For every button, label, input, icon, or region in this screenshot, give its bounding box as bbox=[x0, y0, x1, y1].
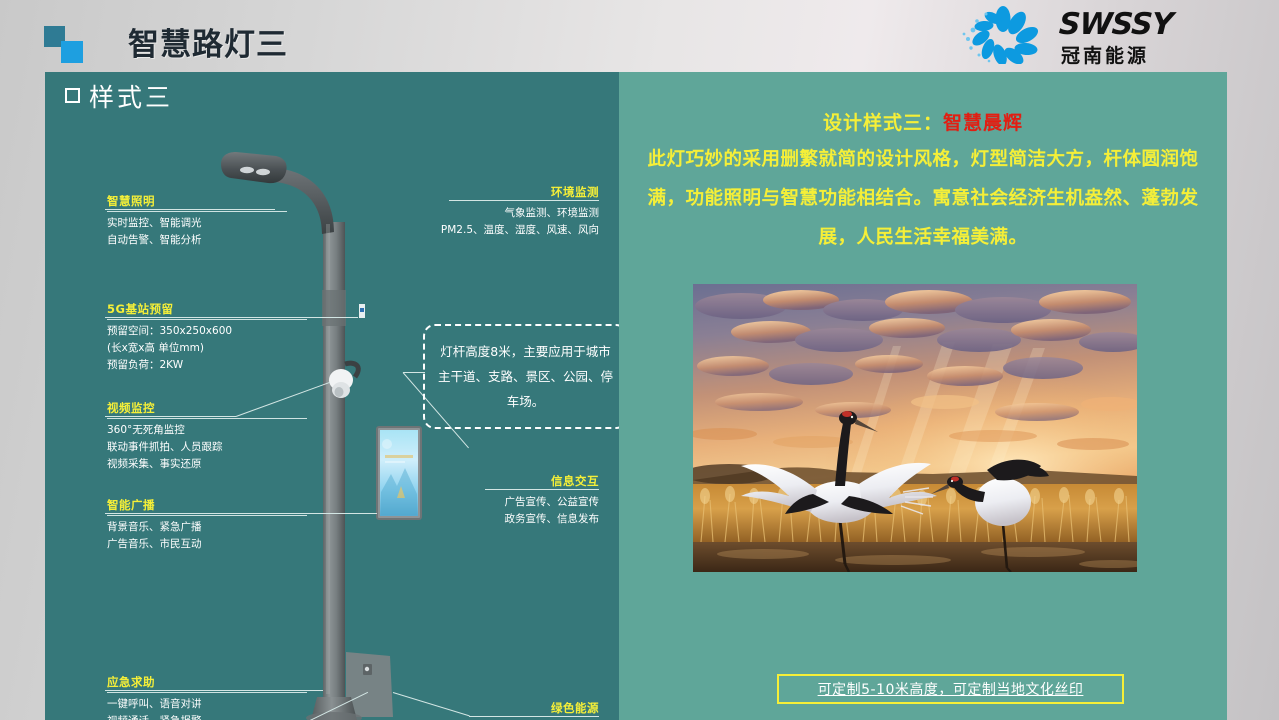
label-environment-line-1: 气象监测、环境监测 bbox=[399, 205, 599, 222]
label-broadcast-line-1: 背景音乐、紧急广播 bbox=[107, 519, 307, 536]
left-panel-title: 样式三 bbox=[89, 78, 173, 114]
label-5g-line-2: (长x宽x高 单位mm) bbox=[107, 340, 307, 357]
label-5g-line-1: 预留空间：350x250x600 bbox=[107, 323, 307, 340]
crane-sunset-photo-image bbox=[693, 284, 1137, 572]
page-title: 智慧路灯三 bbox=[128, 19, 288, 64]
label-emergency-line-1: 一键呼叫、语音对讲 bbox=[107, 696, 307, 713]
leader-line-callout bbox=[403, 372, 425, 373]
brand-logo: SWSSY 冠南能源 bbox=[955, 6, 1225, 66]
label-5g-line-3: 预留负荷：2KW bbox=[107, 357, 307, 374]
right-description-panel: 设计样式三：智慧晨辉 此灯巧妙的采用删繁就简的设计风格，灯型简洁大方，杆体圆润饱… bbox=[619, 72, 1227, 720]
label-emergency-line-2: 视频通话、紧急报警 bbox=[107, 713, 307, 720]
label-smart-lighting-line-2: 自动告警、智能分析 bbox=[107, 232, 287, 249]
label-broadcast-line-2: 广告音乐、市民互动 bbox=[107, 536, 307, 553]
callout-text: 灯杆高度8米，主要应用于城市主干道、支路、景区、公园、停车场。 bbox=[425, 339, 619, 414]
square-bullet-icon bbox=[65, 88, 80, 103]
label-video-line-1: 360°无死角监控 bbox=[107, 422, 307, 439]
label-information-interaction: 信息交互 广告宣传、公益宣传 政务宣传、信息发布 bbox=[439, 473, 599, 528]
label-smart-lighting: 智慧照明 实时监控、智能调光 自动告警、智能分析 bbox=[107, 193, 287, 249]
height-application-callout: 灯杆高度8米，主要应用于城市主干道、支路、景区、公园、停车场。 bbox=[423, 324, 619, 429]
label-info-line-2: 政务宣传、信息发布 bbox=[439, 511, 599, 528]
logo-wordmark: SWSSY bbox=[1058, 7, 1173, 42]
design-style-heading-name: 智慧晨辉 bbox=[943, 112, 1023, 134]
label-info-line-1: 广告宣传、公益宣传 bbox=[439, 494, 599, 511]
design-style-heading: 设计样式三：智慧晨辉 bbox=[619, 108, 1227, 135]
slide-header: 智慧路灯三 SWSSY 冠南能源 bbox=[0, 0, 1279, 68]
label-green-energy: 绿色能源 汽车充电 手机充电 bbox=[439, 700, 599, 720]
label-environment-monitor: 环境监测 气象监测、环境监测 PM2.5、温度、湿度、风速、风向 bbox=[399, 184, 599, 239]
label-smart-broadcast: 智能广播 背景音乐、紧急广播 广告音乐、市民互动 bbox=[107, 497, 307, 553]
label-environment-title: 环境监测 bbox=[399, 184, 599, 202]
left-diagram-panel: 样式三 bbox=[45, 72, 619, 720]
label-smart-lighting-line-1: 实时监控、智能调光 bbox=[107, 215, 287, 232]
label-broadcast-title: 智能广播 bbox=[107, 497, 307, 516]
design-style-heading-prefix: 设计样式三： bbox=[823, 112, 943, 134]
label-video-line-2: 联动事件抓拍、人员跟踪 bbox=[107, 439, 307, 456]
label-video-title: 视频监控 bbox=[107, 400, 307, 419]
label-green-energy-title: 绿色能源 bbox=[439, 700, 599, 718]
crane-sunset-photo bbox=[693, 284, 1137, 572]
label-smart-lighting-title: 智慧照明 bbox=[107, 193, 287, 212]
label-emergency-title: 应急求助 bbox=[107, 674, 307, 693]
label-5g-base-station: 5G基站预留 预留空间：350x250x600 (长x宽x高 单位mm) 预留负… bbox=[107, 301, 307, 374]
label-video-surveillance: 视频监控 360°无死角监控 联动事件抓拍、人员跟踪 视频采集、事实还原 bbox=[107, 400, 307, 473]
label-info-title: 信息交互 bbox=[439, 473, 599, 491]
logo-subtitle: 冠南能源 bbox=[1061, 41, 1149, 68]
header-square-blue-icon bbox=[61, 41, 83, 63]
customization-caption-box: 可定制5-10米高度，可定制当地文化丝印 bbox=[777, 674, 1124, 704]
petal-flower-logo-icon bbox=[955, 6, 1051, 64]
label-5g-title: 5G基站预留 bbox=[107, 301, 307, 320]
label-environment-line-2: PM2.5、温度、湿度、风速、风向 bbox=[399, 222, 599, 239]
design-description-text: 此灯巧妙的采用删繁就简的设计风格，灯型简洁大方，杆体圆润饱满，功能照明与智慧功能… bbox=[641, 140, 1205, 257]
label-video-line-3: 视频采集、事实还原 bbox=[107, 456, 307, 473]
customization-caption-text: 可定制5-10米高度，可定制当地文化丝印 bbox=[818, 679, 1084, 699]
label-emergency-help: 应急求助 一键呼叫、语音对讲 视频通话、紧急报警 bbox=[107, 674, 307, 720]
